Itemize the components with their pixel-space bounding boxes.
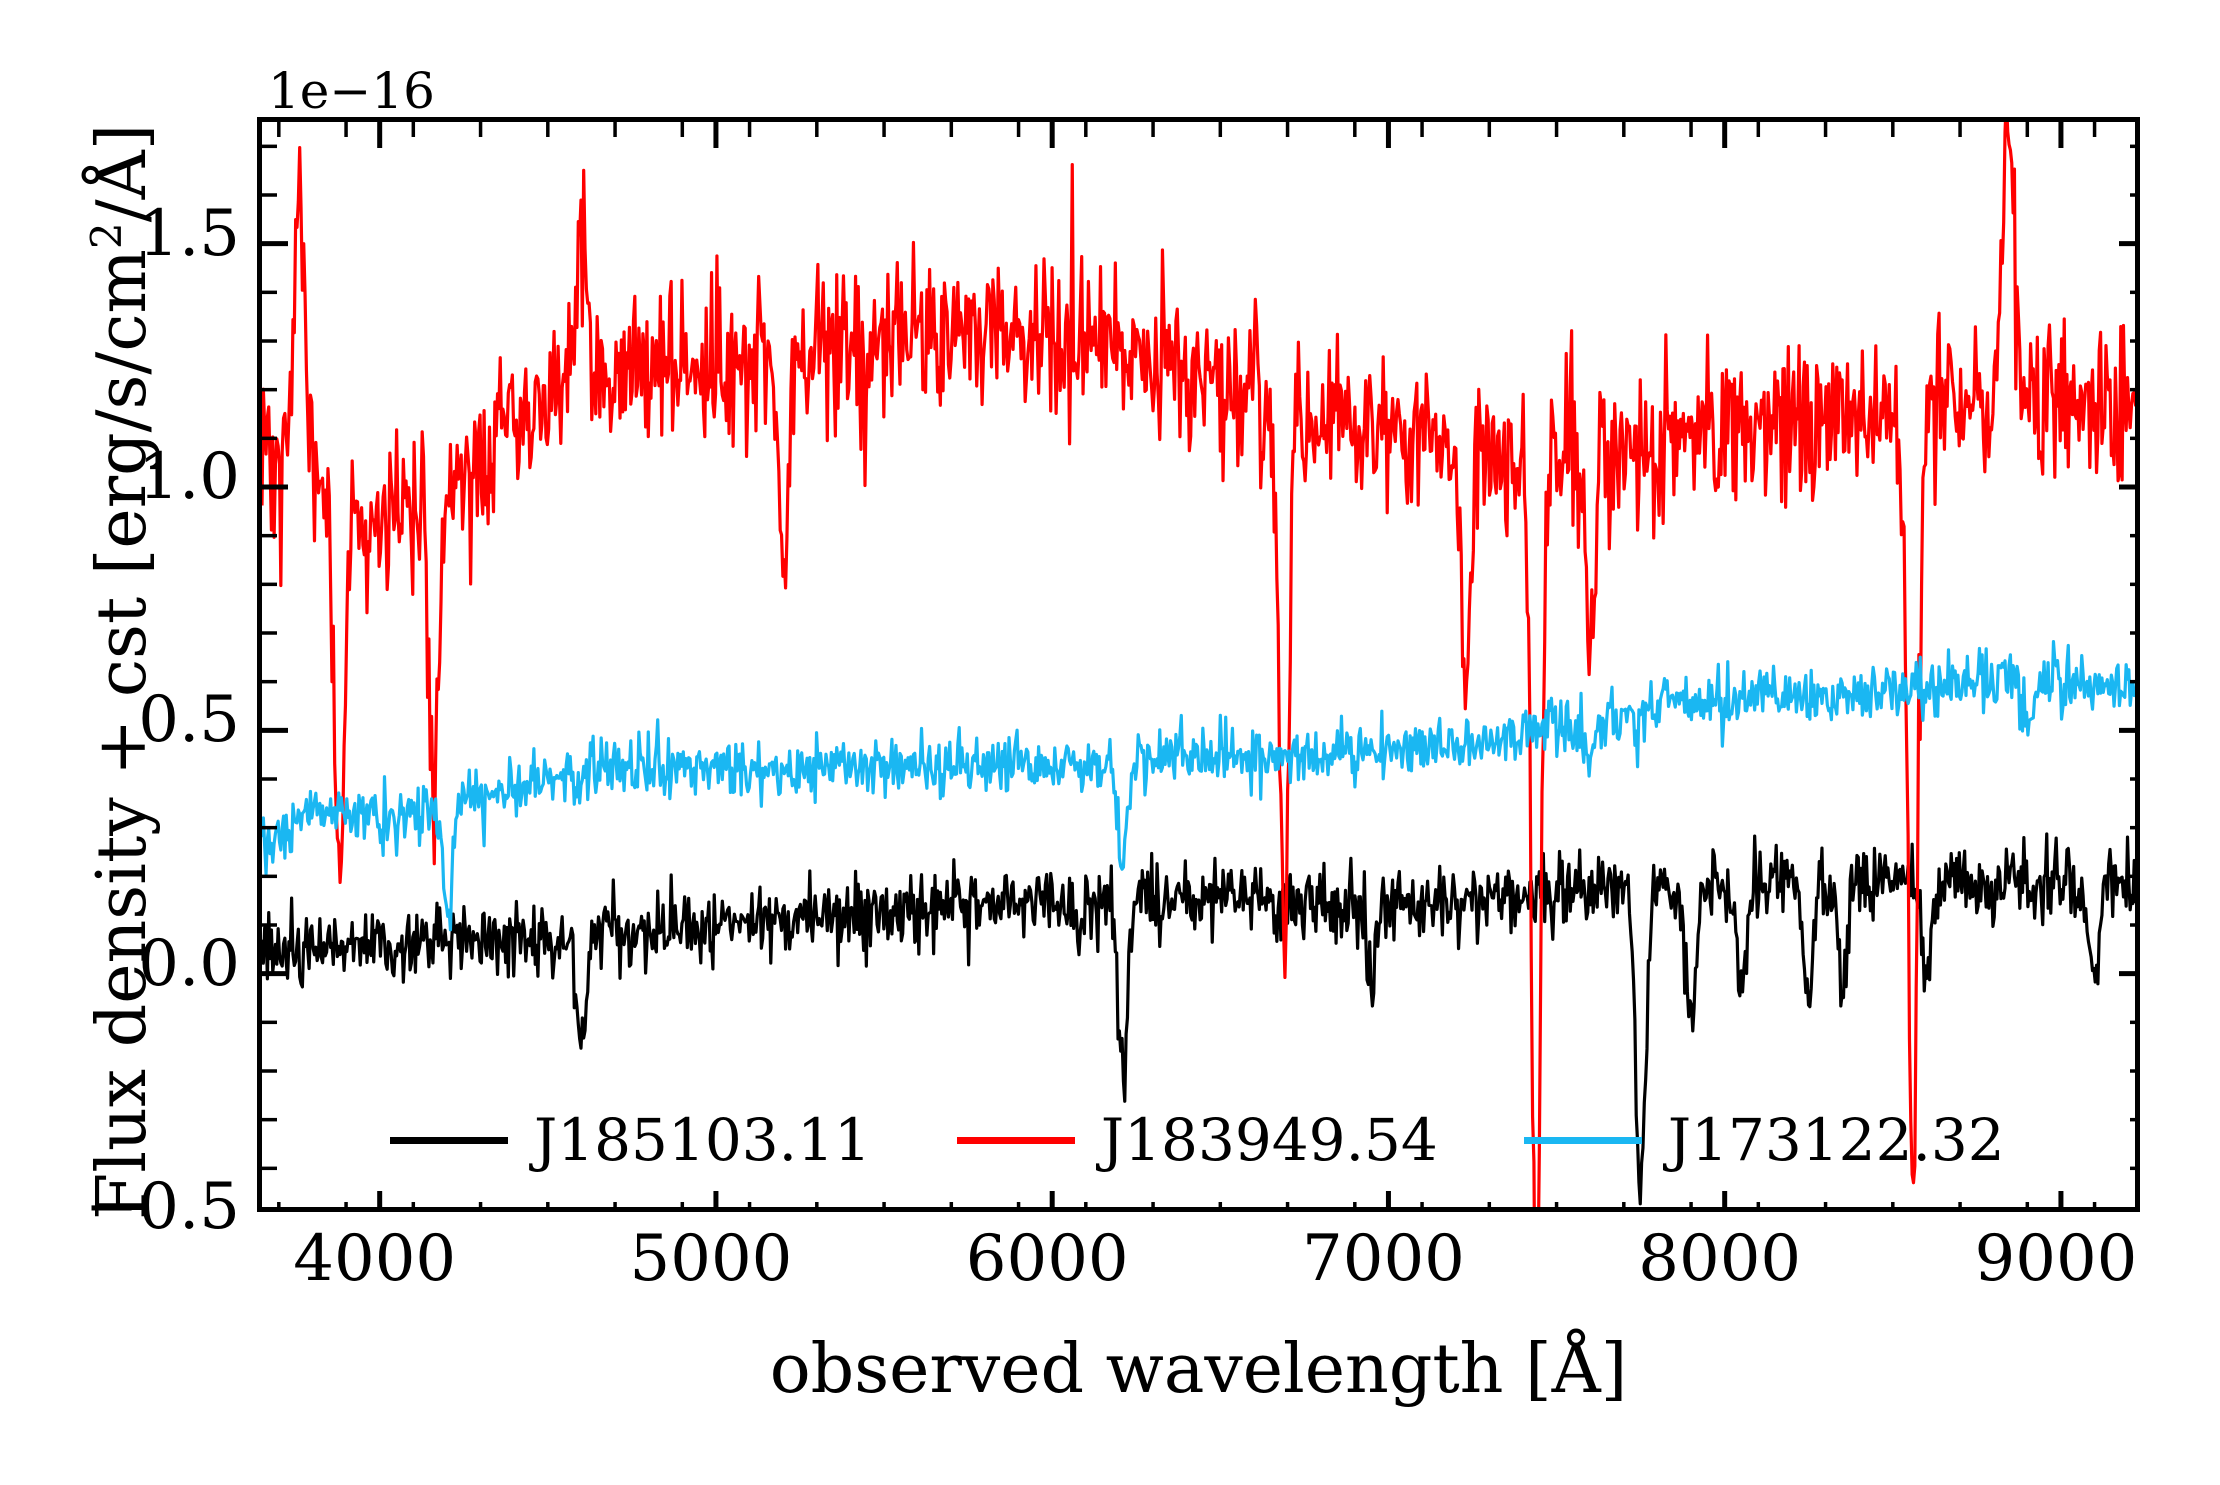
legend-line-swatch — [390, 1137, 508, 1144]
legend-label: J183949.54 — [1101, 1106, 1438, 1174]
x-axis-label: observed wavelength [Å] — [257, 1330, 2140, 1409]
legend-line-swatch — [957, 1137, 1075, 1144]
x-tick-label: 9000 — [1896, 1222, 2216, 1296]
x-tick-label: 4000 — [215, 1222, 535, 1296]
y-axis-label-superscript: 2 — [82, 222, 131, 249]
legend-label: J185103.11 — [534, 1106, 871, 1174]
legend-j173122[interactable]: J173122.32 — [1524, 1106, 2005, 1174]
legend-line-swatch — [1524, 1137, 1642, 1144]
legend-j185103[interactable]: J185103.11 — [390, 1106, 871, 1174]
plot-axes — [257, 117, 2140, 1212]
legend-label: J173122.32 — [1668, 1106, 2005, 1174]
x-tick-label: 6000 — [887, 1222, 1207, 1296]
x-tick-label: 5000 — [551, 1222, 871, 1296]
y-axis-label: Flux density + cst [erg/s/cm2/Å] — [82, 72, 162, 1272]
spectra-canvas — [262, 122, 2140, 1212]
y-axis-label-prefix: Flux density + cst [erg/s/cm — [83, 249, 162, 1220]
spectrum-line-j183949.54 — [262, 122, 2140, 1212]
y-axis-label-suffix: /Å] — [83, 124, 162, 223]
x-tick-label: 8000 — [1560, 1222, 1880, 1296]
legend: J185103.11J183949.54J173122.32 — [390, 1106, 2091, 1174]
legend-j183949[interactable]: J183949.54 — [957, 1106, 1438, 1174]
x-tick-label: 7000 — [1223, 1222, 1543, 1296]
y-axis-offset-exponent: 1e−16 — [268, 62, 435, 120]
spectrum-figure: 1e−16 1.51.00.50.0−0.5 40005000600070008… — [0, 0, 2220, 1485]
